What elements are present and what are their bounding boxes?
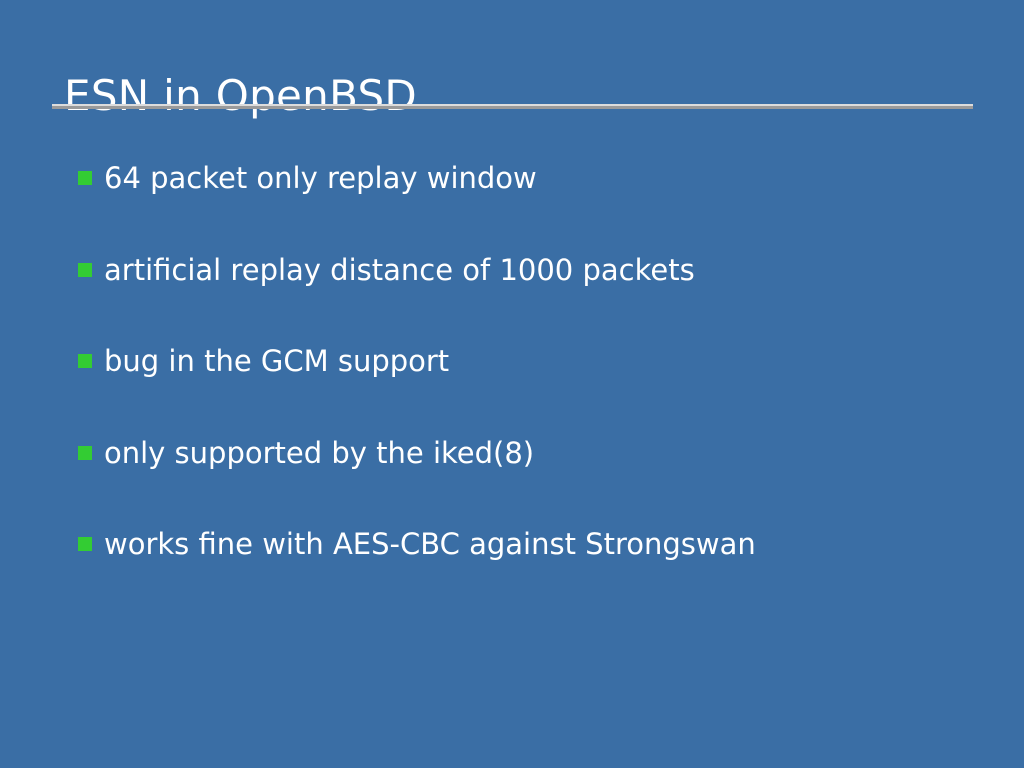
green-square-bullet-icon — [78, 537, 92, 551]
list-item-label: 64 packet only replay window — [104, 160, 537, 196]
green-square-bullet-icon — [78, 263, 92, 277]
green-square-bullet-icon — [78, 446, 92, 460]
list-item-label: only supported by the iked(8) — [104, 435, 534, 471]
list-item: works fine with AES-CBC against Strongsw… — [0, 526, 1024, 618]
page-title: ESN in OpenBSD — [64, 70, 417, 122]
title-separator-rule — [52, 104, 973, 109]
green-square-bullet-icon — [78, 354, 92, 368]
list-item-label: bug in the GCM support — [104, 343, 449, 379]
list-item: only supported by the iked(8) — [0, 435, 1024, 527]
presentation-slide: ESN in OpenBSD 64 packet only replay win… — [0, 0, 1024, 768]
green-square-bullet-icon — [78, 171, 92, 185]
list-item: artificial replay distance of 1000 packe… — [0, 252, 1024, 344]
list-item: 64 packet only replay window — [0, 160, 1024, 252]
bullet-list: 64 packet only replay window artificial … — [0, 160, 1024, 618]
list-item-label: artificial replay distance of 1000 packe… — [104, 252, 695, 288]
list-item-label: works fine with AES-CBC against Strongsw… — [104, 526, 756, 562]
list-item: bug in the GCM support — [0, 343, 1024, 435]
